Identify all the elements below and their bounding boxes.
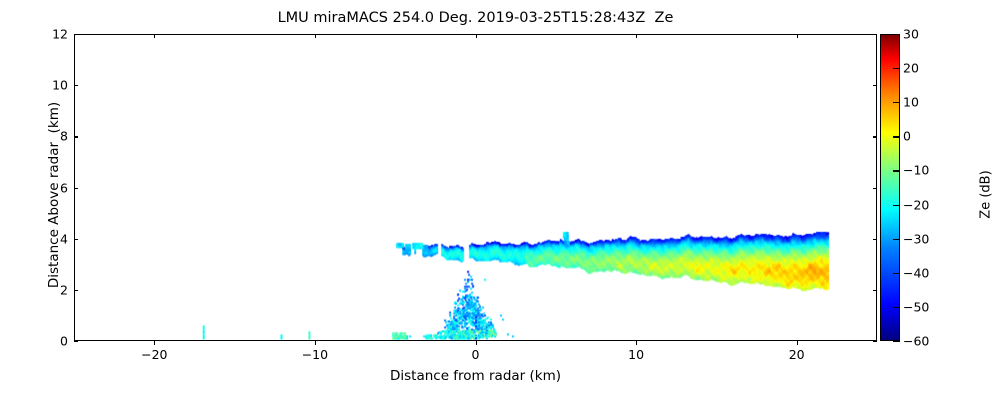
y-tick-label: 8 bbox=[68, 129, 76, 144]
y-tick-label: 12 bbox=[68, 27, 84, 42]
x-tick-label: −10 bbox=[302, 347, 328, 362]
colorbar-tick-label: −30 bbox=[903, 231, 929, 246]
y-tick-label: 0 bbox=[68, 334, 76, 349]
x-tick-label: −20 bbox=[141, 347, 167, 362]
x-tick-bottom bbox=[315, 341, 316, 345]
colorbar-tick-label: −50 bbox=[903, 299, 929, 314]
y-tick-right bbox=[873, 34, 877, 35]
y-tick-label: 2 bbox=[68, 282, 76, 297]
plot-axes bbox=[74, 34, 877, 341]
colorbar-tick bbox=[893, 102, 900, 103]
y-tick-right bbox=[873, 85, 877, 86]
x-axis-label: Distance from radar (km) bbox=[74, 368, 877, 384]
x-tick-label: 0 bbox=[472, 347, 480, 362]
colorbar-tick bbox=[893, 341, 900, 342]
colorbar-tick-label: −20 bbox=[903, 197, 929, 212]
x-tick-top bbox=[476, 34, 477, 38]
y-tick-right bbox=[873, 341, 877, 342]
radar-rhi-figure: LMU miraMACS 254.0 Deg. 2019-03-25T15:28… bbox=[0, 0, 1000, 400]
y-tick-label: 4 bbox=[68, 231, 76, 246]
colorbar-tick bbox=[893, 68, 900, 69]
x-tick-bottom bbox=[476, 341, 477, 345]
colorbar-tick bbox=[893, 307, 900, 308]
y-tick-right bbox=[873, 290, 877, 291]
x-tick-bottom bbox=[797, 341, 798, 345]
x-tick-bottom bbox=[636, 341, 637, 345]
colorbar-tick-label: −60 bbox=[903, 334, 929, 349]
colorbar-label: Ze (dB) bbox=[979, 95, 994, 295]
x-tick-top bbox=[797, 34, 798, 38]
y-tick-right bbox=[873, 188, 877, 189]
colorbar-tick-label: 10 bbox=[903, 95, 919, 110]
colorbar bbox=[880, 34, 900, 341]
colorbar-tick bbox=[893, 205, 900, 206]
colorbar-tick-label: 0 bbox=[903, 129, 911, 144]
colorbar-tick bbox=[893, 136, 900, 137]
radar-reflectivity-image bbox=[75, 35, 876, 340]
x-tick-bottom bbox=[154, 341, 155, 345]
x-tick-top bbox=[315, 34, 316, 38]
colorbar-tick-label: 30 bbox=[903, 27, 919, 42]
x-tick-top bbox=[154, 34, 155, 38]
y-tick-label: 6 bbox=[68, 180, 76, 195]
colorbar-tick bbox=[893, 273, 900, 274]
colorbar-tick-label: −40 bbox=[903, 265, 929, 280]
y-tick-right bbox=[873, 136, 877, 137]
x-tick-top bbox=[636, 34, 637, 38]
colorbar-tick bbox=[893, 239, 900, 240]
y-tick-right bbox=[873, 239, 877, 240]
colorbar-tick bbox=[893, 34, 900, 35]
x-tick-label: 20 bbox=[789, 347, 805, 362]
y-tick-label: 10 bbox=[68, 78, 84, 93]
colorbar-tick-label: 20 bbox=[903, 61, 919, 76]
colorbar-tick-label: −10 bbox=[903, 163, 929, 178]
colorbar-tick bbox=[893, 170, 900, 171]
plot-title: LMU miraMACS 254.0 Deg. 2019-03-25T15:28… bbox=[74, 10, 877, 26]
x-tick-label: 10 bbox=[628, 347, 644, 362]
